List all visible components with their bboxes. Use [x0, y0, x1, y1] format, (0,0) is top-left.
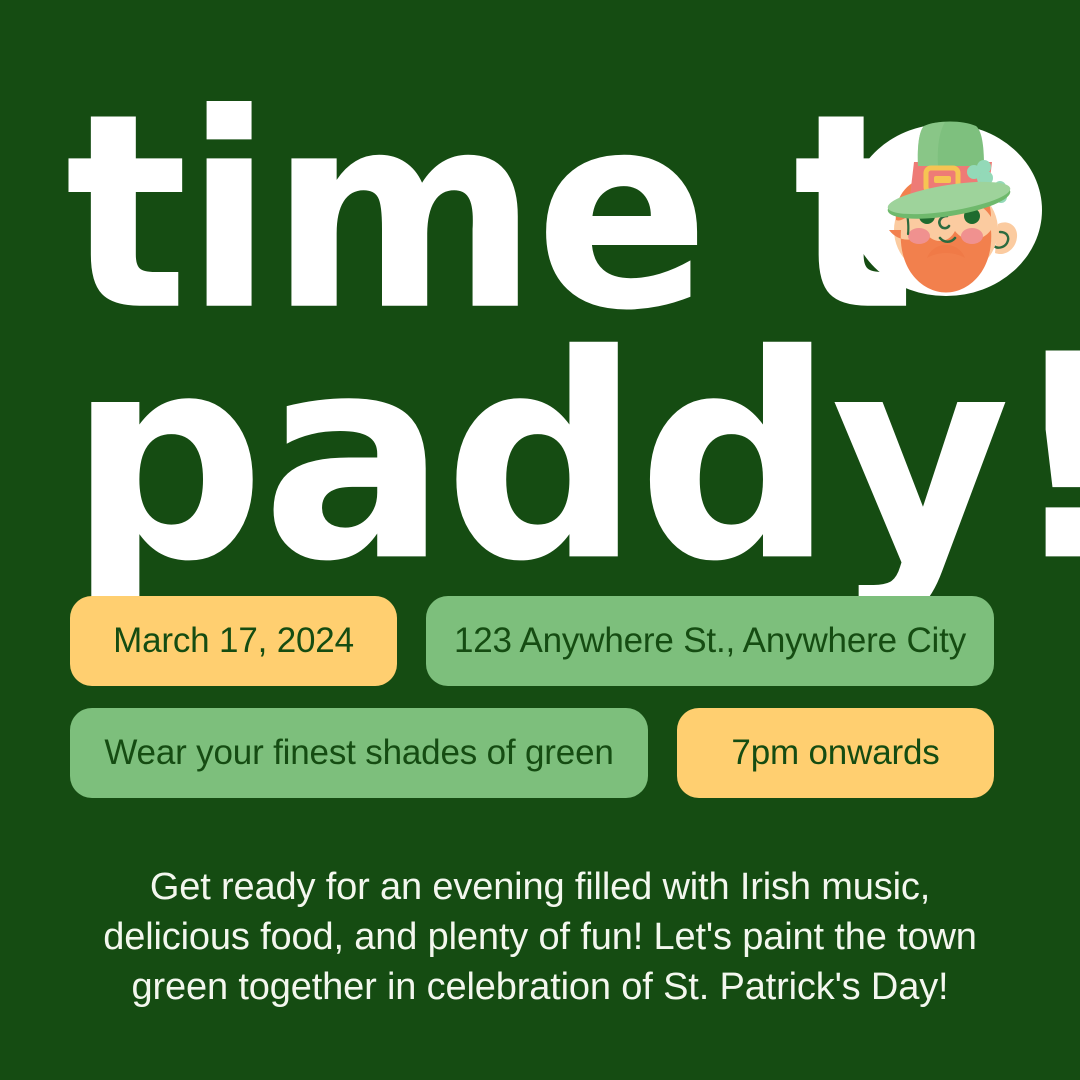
badge-row-2: Wear your finest shades of green 7pm onw…: [70, 708, 994, 798]
badge-date[interactable]: March 17, 2024: [70, 596, 397, 686]
badge-row-1: March 17, 2024 123 Anywhere St., Anywher…: [70, 596, 994, 686]
headline-line-2: paddy!: [0, 318, 1080, 601]
body-line-1: Get ready for an evening filled with Iri…: [70, 862, 1010, 912]
badge-time[interactable]: 7pm onwards: [677, 708, 994, 798]
badge-address[interactable]: 123 Anywhere St., Anywhere City: [426, 596, 994, 686]
leprechaun-icon: [848, 112, 1044, 314]
body-line-2: delicious food, and plenty of fun! Let's…: [70, 912, 1010, 962]
poster-canvas: time t paddy!: [0, 0, 1080, 1080]
body-paragraph: Get ready for an evening filled with Iri…: [70, 862, 1010, 1012]
event-details-badges: March 17, 2024 123 Anywhere St., Anywher…: [70, 596, 994, 820]
body-line-3: green together in celebration of St. Pat…: [70, 962, 1010, 1012]
badge-dress-code[interactable]: Wear your finest shades of green: [70, 708, 648, 798]
